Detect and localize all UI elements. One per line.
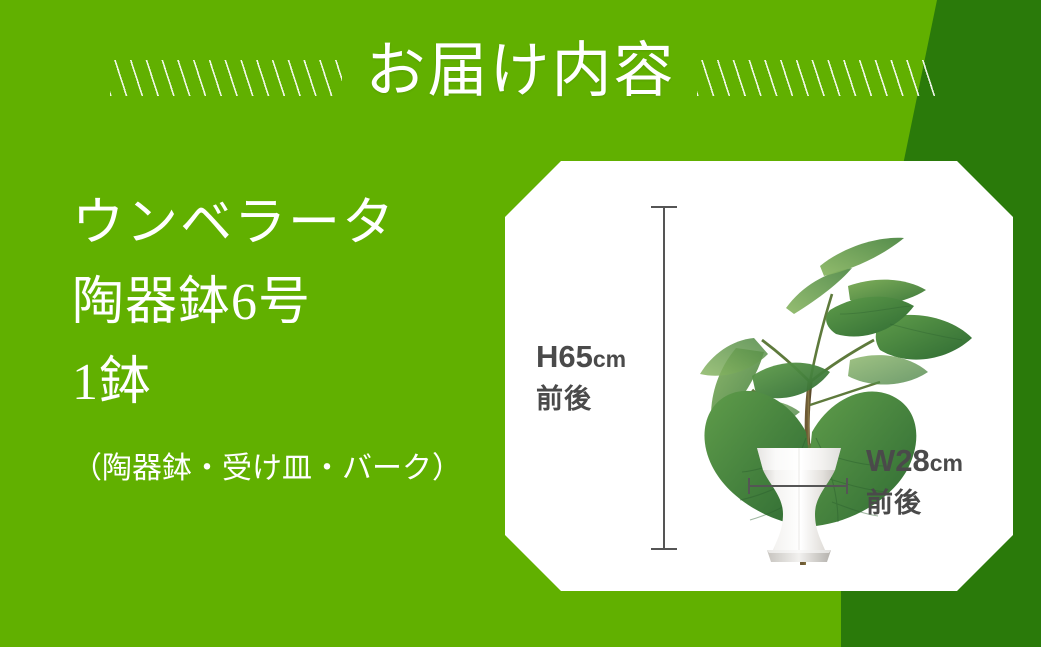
product-pot-size: 陶器鉢6号 bbox=[72, 263, 472, 343]
promo-banner: お届け内容 ウンベラータ 陶器鉢6号 1鉢 （陶器鉢・受け皿・バーク） bbox=[0, 0, 1041, 647]
height-approx: 前後 bbox=[536, 382, 626, 416]
ceramic-pot bbox=[751, 440, 847, 565]
height-measure-line bbox=[663, 206, 665, 550]
height-measure-cap-bottom bbox=[651, 548, 677, 550]
product-description: ウンベラータ 陶器鉢6号 1鉢 （陶器鉢・受け皿・バーク） bbox=[72, 185, 472, 493]
width-unit: cm bbox=[930, 450, 963, 476]
width-approx: 前後 bbox=[866, 486, 963, 520]
product-includes: （陶器鉢・受け皿・バーク） bbox=[72, 445, 472, 493]
height-measurement-label: H65cm 前後 bbox=[536, 340, 626, 416]
height-unit: cm bbox=[593, 346, 626, 372]
width-measure-cap-left bbox=[748, 478, 750, 494]
width-measurement-label: W28cm 前後 bbox=[866, 444, 963, 520]
height-measure-cap-top bbox=[651, 206, 677, 208]
width-measure-line bbox=[748, 485, 848, 487]
height-value: H65 bbox=[536, 339, 593, 374]
width-measure-cap-right bbox=[846, 478, 848, 494]
product-name: ウンベラータ bbox=[72, 185, 472, 263]
banner-header: お届け内容 bbox=[0, 0, 1041, 150]
product-quantity: 1鉢 bbox=[72, 343, 472, 423]
width-value: W28 bbox=[866, 443, 930, 478]
page-title: お届け内容 bbox=[0, 34, 1041, 108]
